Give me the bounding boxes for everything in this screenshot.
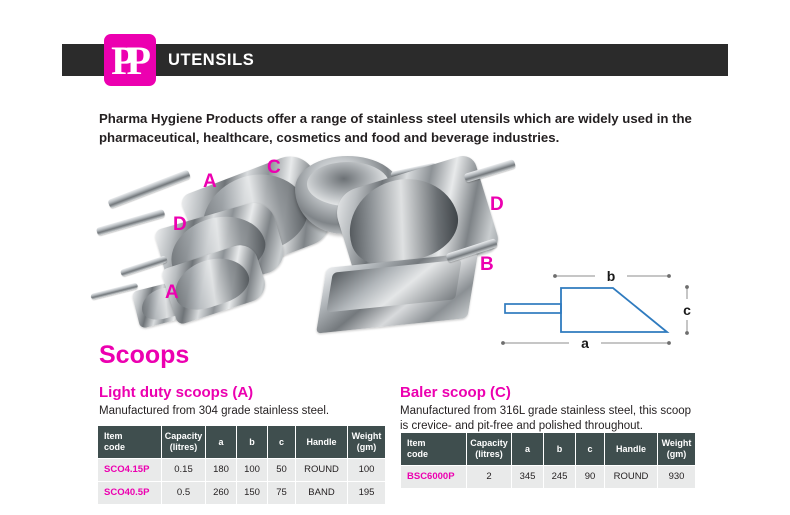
- dimension-tick-b-right: [667, 274, 671, 278]
- column-header-weight: Weight (gm): [658, 433, 696, 466]
- column-header-b: b: [544, 433, 576, 466]
- right-column-heading: Baler scoop (C): [400, 383, 511, 402]
- table-row: SCO4.15P 0.15 180 100 50 ROUND 100: [98, 459, 386, 482]
- column-header-c: c: [268, 426, 296, 459]
- company-logo: PP: [104, 34, 156, 86]
- column-header-item-code: Item code: [98, 426, 162, 459]
- column-header-handle: Handle: [296, 426, 348, 459]
- right-column-subtitle: Manufactured from 316L grade stainless s…: [400, 404, 700, 434]
- dimension-tick-c-bottom: [685, 331, 689, 335]
- light-duty-scoops-table: Item code Capacity (litres) a b c Handle…: [97, 425, 386, 505]
- dimension-drawing: b a c: [495, 255, 715, 355]
- table-row: BSC6000P 2 345 245 90 ROUND 930: [401, 466, 696, 489]
- column-header-capacity: Capacity (litres): [162, 426, 206, 459]
- baler-scoop-table: Item code Capacity (litres) a b c Handle…: [400, 432, 696, 489]
- column-header-c: c: [576, 433, 605, 466]
- column-header-capacity: Capacity (litres): [467, 433, 512, 466]
- photo-label-a-bottom: A: [165, 283, 179, 302]
- scoop-handle: [120, 255, 168, 276]
- photo-label-d-right: D: [490, 195, 504, 214]
- cell-capacity: 0.15: [162, 459, 206, 482]
- dimension-label-c: c: [683, 302, 691, 318]
- cell-a: 345: [512, 466, 544, 489]
- table-header-row: Item code Capacity (litres) a b c Handle…: [401, 433, 696, 466]
- table-row: SCO40.5P 0.5 260 150 75 BAND 195: [98, 482, 386, 505]
- cell-weight: 100: [348, 459, 386, 482]
- header-bar: [62, 44, 728, 76]
- dimension-tick-b-left: [553, 274, 557, 278]
- cell-item-code: BSC6000P: [401, 466, 467, 489]
- cell-c: 75: [268, 482, 296, 505]
- cell-b: 100: [237, 459, 268, 482]
- dimension-tick-c-top: [685, 285, 689, 289]
- cell-a: 180: [206, 459, 237, 482]
- dimension-tick-a-right: [667, 341, 671, 345]
- column-header-item-code: Item code: [401, 433, 467, 466]
- cell-capacity: 2: [467, 466, 512, 489]
- product-photo: A C D D A B: [95, 150, 515, 340]
- cell-handle: BAND: [296, 482, 348, 505]
- logo-monogram-text: PP: [104, 34, 156, 86]
- table-header-row: Item code Capacity (litres) a b c Handle…: [98, 426, 386, 459]
- dimension-label-b: b: [607, 268, 616, 284]
- cell-handle: ROUND: [296, 459, 348, 482]
- cell-handle: ROUND: [605, 466, 658, 489]
- cell-c: 90: [576, 466, 605, 489]
- dimension-tick-a-left: [501, 341, 505, 345]
- column-header-a: a: [206, 426, 237, 459]
- cell-c: 50: [268, 459, 296, 482]
- scoop-handle-outline: [505, 304, 561, 313]
- photo-label-b: B: [480, 255, 494, 274]
- cell-b: 150: [237, 482, 268, 505]
- section-title: Scoops: [99, 340, 189, 370]
- cell-weight: 195: [348, 482, 386, 505]
- page-title: UTENSILS: [168, 49, 254, 71]
- cell-item-code: SCO4.15P: [98, 459, 162, 482]
- dimension-label-a: a: [581, 335, 589, 351]
- photo-label-d-left: D: [173, 215, 187, 234]
- cell-b: 245: [544, 466, 576, 489]
- intro-paragraph: Pharma Hygiene Products offer a range of…: [99, 109, 699, 147]
- photo-label-c: C: [267, 158, 281, 177]
- cell-item-code: SCO40.5P: [98, 482, 162, 505]
- photo-label-a-top: A: [203, 172, 217, 191]
- cell-capacity: 0.5: [162, 482, 206, 505]
- cell-weight: 930: [658, 466, 696, 489]
- scoop-handle: [90, 282, 138, 299]
- column-header-b: b: [237, 426, 268, 459]
- column-header-handle: Handle: [605, 433, 658, 466]
- column-header-weight: Weight (gm): [348, 426, 386, 459]
- left-column-subtitle: Manufactured from 304 grade stainless st…: [99, 404, 379, 419]
- column-header-a: a: [512, 433, 544, 466]
- scoop-handle: [107, 169, 191, 208]
- left-column-heading: Light duty scoops (A): [99, 383, 253, 402]
- scoop-body-outline: [561, 288, 667, 332]
- cell-a: 260: [206, 482, 237, 505]
- scoop-dimension-diagram: b a c: [495, 255, 715, 355]
